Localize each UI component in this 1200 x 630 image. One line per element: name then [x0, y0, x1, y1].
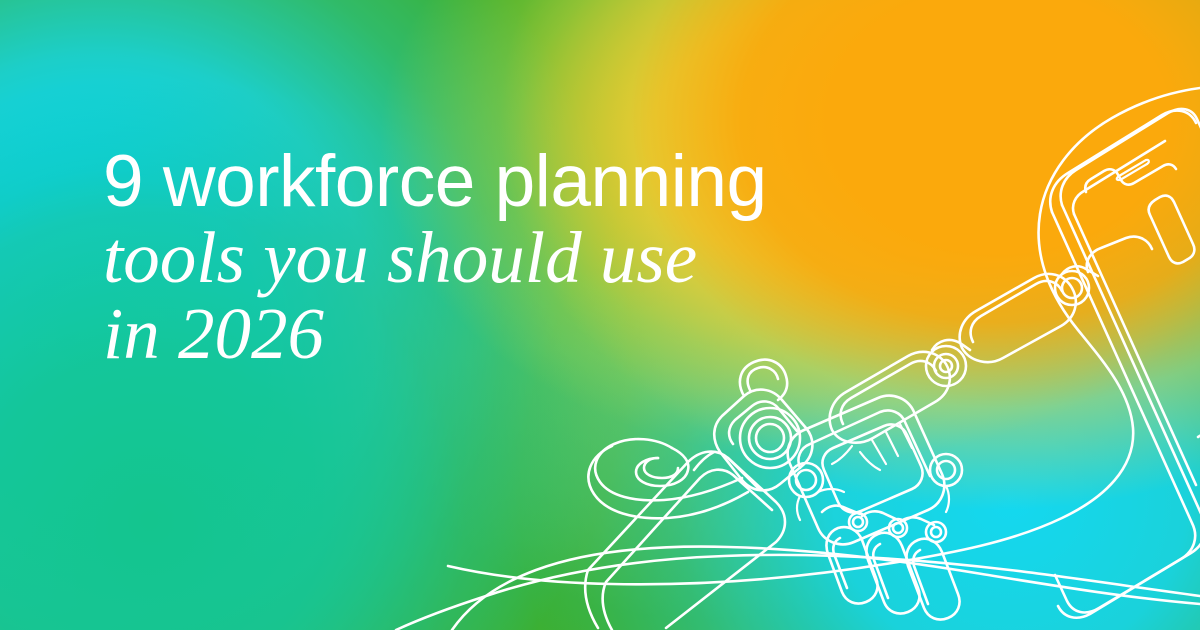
page-title: 9 workforce planning tools you should us… [103, 142, 1063, 374]
headline-line-2: tools you should use [103, 218, 1063, 298]
headline-line-3: in 2026 [103, 294, 1063, 374]
blog-banner: 9 workforce planning tools you should us… [0, 0, 1200, 630]
headline-line-1: 9 workforce planning [103, 142, 1063, 222]
